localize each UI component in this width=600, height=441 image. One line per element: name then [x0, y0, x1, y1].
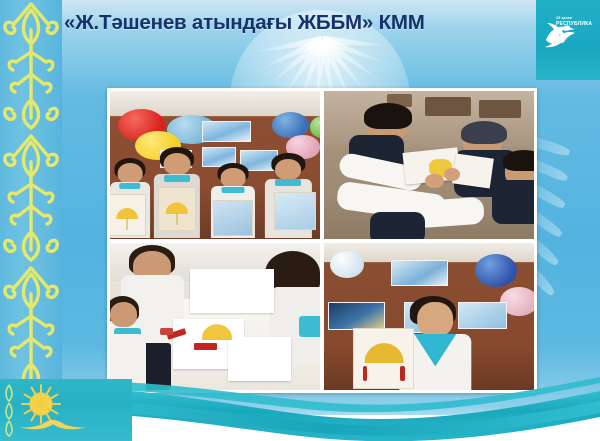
photo-collage — [107, 88, 537, 393]
republic-day-emblem: 25 қазан РЕСПУБЛИКА КҮНІ — [536, 0, 600, 80]
kazakhstan-flag — [0, 379, 132, 441]
flag-eagle-icon — [18, 417, 88, 431]
photo-bottom-right[interactable] — [324, 243, 534, 391]
flag-ornament-strip — [2, 383, 16, 437]
badge-subtitle-label: КҮНІ — [556, 27, 596, 33]
presentation-slide: «Ж.Тәшенев атындағы ЖББМ» КММ 25 қазан Р… — [0, 0, 600, 441]
photo-top-right[interactable] — [324, 91, 534, 239]
kazakh-ornament-band — [0, 0, 62, 395]
badge-date-label: 25 қазан — [556, 16, 596, 20]
photo-top-left[interactable] — [110, 91, 320, 239]
photo-bottom-left[interactable] — [110, 243, 320, 391]
slide-title: «Ж.Тәшенев атындағы ЖББМ» КММ — [64, 6, 494, 40]
